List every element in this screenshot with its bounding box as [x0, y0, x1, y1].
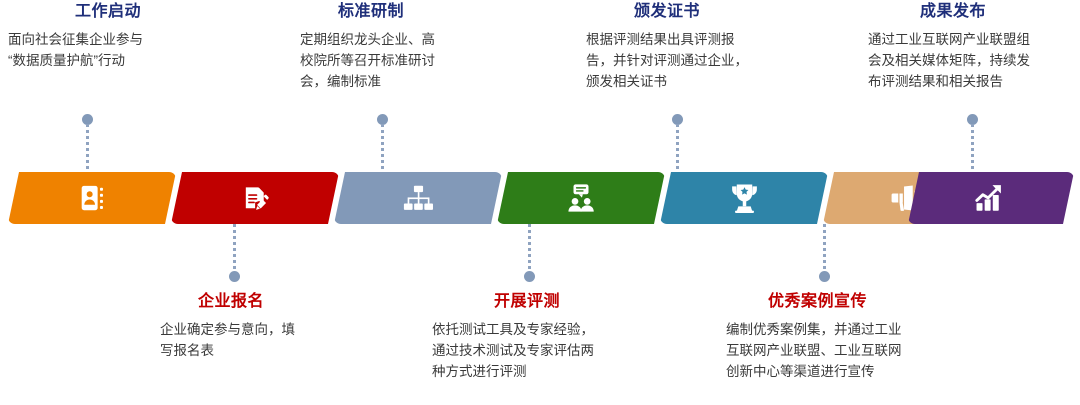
connector-line-5	[676, 124, 679, 172]
step-text-block-2: 企业报名 企业确定参与意向，填 写报名表	[160, 292, 350, 361]
connector-line-6	[823, 224, 826, 272]
step-text-block-5: 颁发证书 根据评测结果出具评测报 告，并针对评测通过企业， 颁发相关证书	[586, 2, 806, 92]
step-body-3: 定期组织龙头企业、高 校院所等召开标准研讨 会，编制标准	[300, 29, 496, 92]
connector-line-4	[528, 224, 531, 272]
process-step-1[interactable]	[8, 172, 176, 224]
people-discussion-icon	[566, 183, 596, 213]
document-edit-icon	[240, 183, 271, 214]
step-title-7: 成果发布	[868, 2, 1080, 22]
step-body-4: 依托测试工具及专家经验， 通过技术测试及专家评估两 种方式进行评测	[432, 319, 664, 382]
step-body-6: 编制优秀案例集，并通过工业 互联网产业联盟、工业互联网 创新中心等渠道进行宣传	[726, 319, 972, 382]
address-book-icon	[77, 183, 107, 213]
step-text-block-3: 标准研制 定期组织龙头企业、高 校院所等召开标准研讨 会，编制标准	[300, 2, 496, 92]
step-title-3: 标准研制	[300, 2, 496, 22]
connector-dot-4	[524, 271, 535, 282]
step-body-5: 根据评测结果出具评测报 告，并针对评测通过企业， 颁发相关证书	[586, 29, 806, 92]
infographic-canvas: 工作启动 面向社会征集企业参与 “数据质量护航”行动 标准研制 定期组织龙头企业…	[0, 0, 1080, 405]
step-body-2: 企业确定参与意向，填 写报名表	[160, 319, 350, 361]
growth-chart-icon	[975, 184, 1007, 212]
org-chart-icon	[403, 185, 434, 211]
step-text-block-7: 成果发布 通过工业互联网产业联盟组 会及相关媒体矩阵，持续发 布评测结果和相关报…	[868, 2, 1080, 92]
step-body-1: 面向社会征集企业参与 “数据质量护航”行动	[8, 29, 208, 71]
step-text-block-6: 优秀案例宣传 编制优秀案例集，并通过工业 互联网产业联盟、工业互联网 创新中心等…	[726, 292, 972, 382]
connector-line-2	[233, 224, 236, 272]
process-step-4[interactable]	[497, 172, 665, 224]
step-title-6: 优秀案例宣传	[726, 292, 972, 312]
connector-dot-2	[229, 271, 240, 282]
step-title-1: 工作启动	[8, 2, 208, 22]
step-body-7: 通过工业互联网产业联盟组 会及相关媒体矩阵，持续发 布评测结果和相关报告	[868, 29, 1080, 92]
step-text-block-1: 工作启动 面向社会征集企业参与 “数据质量护航”行动	[8, 2, 208, 71]
connector-line-1	[86, 124, 89, 172]
connector-dot-6	[819, 271, 830, 282]
trophy-icon	[730, 183, 759, 214]
connector-line-3	[381, 124, 384, 172]
process-step-5[interactable]	[660, 172, 828, 224]
connector-line-7	[971, 124, 974, 172]
step-text-block-4: 开展评测 依托测试工具及专家经验， 通过技术测试及专家评估两 种方式进行评测	[432, 292, 664, 382]
process-step-7-final[interactable]	[908, 172, 1074, 224]
step-title-2: 企业报名	[160, 292, 350, 312]
step-title-5: 颁发证书	[586, 2, 806, 22]
process-step-2[interactable]	[171, 172, 339, 224]
process-step-3[interactable]	[334, 172, 502, 224]
step-title-4: 开展评测	[432, 292, 664, 312]
